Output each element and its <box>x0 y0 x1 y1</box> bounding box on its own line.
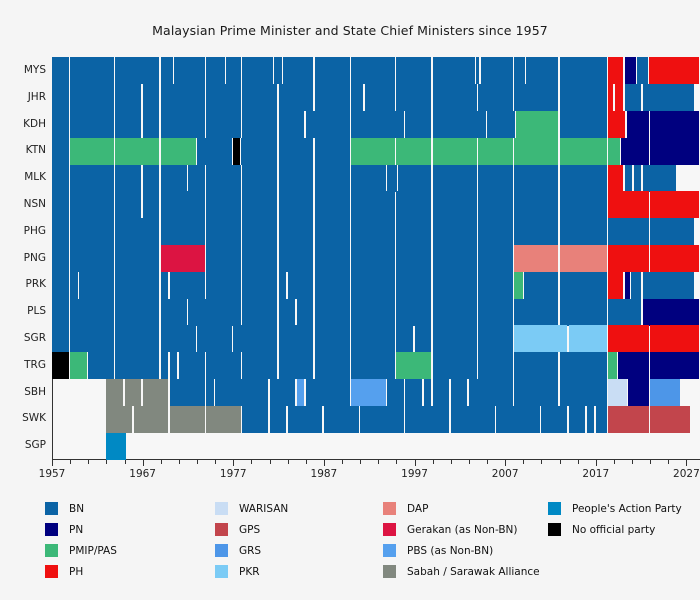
timeline-segment[interactable] <box>161 245 205 272</box>
timeline-segment[interactable] <box>79 272 114 299</box>
timeline-segment[interactable] <box>433 57 475 84</box>
timeline-segment[interactable] <box>643 84 694 111</box>
timeline-segment[interactable] <box>625 165 633 192</box>
y-axis-label-nsn: NSN <box>2 191 46 218</box>
timeline-segment[interactable] <box>206 111 241 138</box>
timeline-segment[interactable] <box>161 165 187 192</box>
timeline-segment[interactable] <box>351 352 395 379</box>
timeline-segment[interactable] <box>324 406 359 433</box>
timeline-segment[interactable] <box>115 325 159 352</box>
timeline-segment[interactable] <box>514 84 558 111</box>
timeline-segment[interactable] <box>242 352 277 379</box>
timeline-segment[interactable] <box>242 299 277 326</box>
timeline-segment[interactable] <box>241 138 277 165</box>
timeline-segment[interactable] <box>351 165 386 192</box>
timeline-segment[interactable] <box>161 352 169 379</box>
timeline-segment[interactable] <box>608 84 613 111</box>
legend-item[interactable]: PH <box>45 561 117 582</box>
timeline-segment[interactable] <box>643 165 676 192</box>
x-axis-minor-tick <box>360 460 361 464</box>
timeline-segment[interactable] <box>206 406 241 433</box>
timeline-segment[interactable] <box>478 352 513 379</box>
timeline-segment[interactable] <box>628 379 648 406</box>
timeline-segment[interactable] <box>478 245 513 272</box>
timeline-segment[interactable] <box>52 165 69 192</box>
timeline-segment[interactable] <box>70 111 114 138</box>
legend-item[interactable]: No official party <box>548 519 682 540</box>
x-axis-tick <box>143 460 144 466</box>
timeline-segment[interactable] <box>70 325 114 352</box>
timeline-segment[interactable] <box>650 111 698 138</box>
legend-label: DAP <box>407 503 428 515</box>
timeline-segment[interactable] <box>514 325 567 352</box>
timeline-segment[interactable] <box>587 406 595 433</box>
legend-item[interactable]: Gerakan (as Non-BN) <box>383 519 540 540</box>
timeline-segment[interactable] <box>387 165 396 192</box>
timeline-segment[interactable] <box>242 272 277 299</box>
timeline-segment[interactable] <box>283 57 313 84</box>
legend-item[interactable]: GRS <box>215 540 288 561</box>
timeline-segment[interactable] <box>560 299 608 326</box>
timeline-segment[interactable] <box>315 272 350 299</box>
timeline-row-sbh <box>52 379 700 406</box>
timeline-segment[interactable] <box>643 299 699 326</box>
timeline-segment[interactable] <box>70 84 114 111</box>
legend-item[interactable]: PMIP/PAS <box>45 540 117 561</box>
timeline-segment[interactable] <box>560 272 608 299</box>
timeline-segment[interactable] <box>478 325 513 352</box>
timeline-segment[interactable] <box>174 57 204 84</box>
timeline-segment[interactable] <box>161 57 173 84</box>
timeline-segment[interactable] <box>143 191 160 218</box>
timeline-segment[interactable] <box>206 84 241 111</box>
timeline-segment[interactable] <box>115 165 141 192</box>
timeline-segment[interactable] <box>433 191 477 218</box>
y-axis-label-sbh: SBH <box>2 379 46 406</box>
timeline-segment[interactable] <box>161 111 205 138</box>
timeline-segment[interactable] <box>596 406 607 433</box>
timeline-segment[interactable] <box>560 191 608 218</box>
legend-item[interactable]: WARISAN <box>215 498 288 519</box>
timeline-segment[interactable] <box>365 84 395 111</box>
timeline-segment[interactable] <box>415 325 432 352</box>
timeline-segment[interactable] <box>478 84 513 111</box>
timeline-segment[interactable] <box>315 191 350 218</box>
timeline-segment[interactable] <box>233 325 277 352</box>
legend-item[interactable]: BN <box>45 498 117 519</box>
timeline-segment[interactable] <box>115 191 141 218</box>
timeline-segment[interactable] <box>315 325 350 352</box>
timeline-segment[interactable] <box>608 191 648 218</box>
timeline-segment[interactable] <box>242 165 277 192</box>
timeline-segment[interactable] <box>496 406 540 433</box>
timeline-segment[interactable] <box>650 245 698 272</box>
timeline-segment[interactable] <box>627 111 649 138</box>
timeline-segment[interactable] <box>514 165 558 192</box>
timeline-segment[interactable] <box>197 138 232 165</box>
timeline-segment[interactable] <box>387 379 404 406</box>
timeline-segment[interactable] <box>351 272 395 299</box>
legend-label: PKR <box>239 566 260 578</box>
timeline-segment[interactable] <box>242 406 268 433</box>
timeline-segment[interactable] <box>143 84 160 111</box>
timeline-row-prk <box>52 272 700 299</box>
timeline-segment[interactable] <box>70 299 114 326</box>
timeline-segment[interactable] <box>351 138 395 165</box>
timeline-segment[interactable] <box>279 272 287 299</box>
timeline-segment[interactable] <box>396 138 431 165</box>
timeline-segment[interactable] <box>270 406 287 433</box>
timeline-segment[interactable] <box>396 245 431 272</box>
timeline-segment[interactable] <box>52 299 69 326</box>
timeline-segment[interactable] <box>315 245 350 272</box>
timeline-segment[interactable] <box>514 272 523 299</box>
timeline-segment[interactable] <box>351 245 395 272</box>
timeline-segment[interactable] <box>52 218 69 245</box>
timeline-segment[interactable] <box>161 325 196 352</box>
timeline-segment[interactable] <box>52 57 69 84</box>
timeline-segment[interactable] <box>650 406 689 433</box>
timeline-segment[interactable] <box>433 165 477 192</box>
timeline-segment[interactable] <box>315 84 350 111</box>
timeline-segment[interactable] <box>70 218 114 245</box>
timeline-segment[interactable] <box>170 272 205 299</box>
timeline-segment[interactable] <box>569 325 607 352</box>
timeline-segment[interactable] <box>274 57 282 84</box>
legend-item[interactable]: PN <box>45 519 117 540</box>
legend-item[interactable]: PKR <box>215 561 288 582</box>
timeline-segment[interactable] <box>351 218 395 245</box>
timeline-segment[interactable] <box>360 406 404 433</box>
timeline-segment[interactable] <box>106 433 125 460</box>
timeline-segment[interactable] <box>233 138 240 165</box>
timeline-segment[interactable] <box>52 191 69 218</box>
timeline-segment[interactable] <box>396 325 413 352</box>
timeline-segment[interactable] <box>560 245 608 272</box>
timeline-segment[interactable] <box>514 191 558 218</box>
timeline-segment[interactable] <box>279 84 314 111</box>
timeline-segment[interactable] <box>514 245 558 272</box>
timeline-segment[interactable] <box>514 299 558 326</box>
timeline-segment[interactable] <box>206 165 241 192</box>
timeline-segment[interactable] <box>351 191 395 218</box>
timeline-segment[interactable] <box>560 111 608 138</box>
timeline-segment[interactable] <box>526 57 558 84</box>
legend-swatch-icon <box>215 544 228 557</box>
timeline-segment[interactable] <box>161 191 205 218</box>
timeline-segment[interactable] <box>134 406 169 433</box>
timeline-segment[interactable] <box>608 165 623 192</box>
timeline-segment[interactable] <box>279 138 314 165</box>
timeline-segment[interactable] <box>115 218 159 245</box>
timeline-segment[interactable] <box>206 379 214 406</box>
timeline-segment[interactable] <box>115 138 159 165</box>
timeline-segment[interactable] <box>650 138 698 165</box>
timeline-segment[interactable] <box>631 272 641 299</box>
timeline-segment[interactable] <box>279 352 314 379</box>
timeline-segment[interactable] <box>188 165 205 192</box>
timeline-segment[interactable] <box>70 138 114 165</box>
timeline-segment[interactable] <box>451 406 495 433</box>
timeline-segment[interactable] <box>279 191 314 218</box>
legend-item[interactable]: DAP <box>383 498 540 519</box>
timeline-segment[interactable] <box>315 57 350 84</box>
timeline-segment[interactable] <box>115 299 159 326</box>
timeline-segment[interactable] <box>242 191 277 218</box>
timeline-segment[interactable] <box>608 111 625 138</box>
legend-item[interactable]: GPS <box>215 519 288 540</box>
timeline-segment[interactable] <box>170 352 178 379</box>
timeline-segment[interactable] <box>637 57 647 84</box>
timeline-segment[interactable] <box>560 352 608 379</box>
timeline-segment[interactable] <box>206 272 241 299</box>
timeline-segment[interactable] <box>615 84 624 111</box>
timeline-segment[interactable] <box>279 299 296 326</box>
timeline-segment[interactable] <box>625 57 636 84</box>
timeline-segment[interactable] <box>514 352 558 379</box>
legend-swatch-icon <box>383 502 396 515</box>
timeline-segment[interactable] <box>288 272 314 299</box>
legend-item[interactable]: People's Action Party <box>548 498 682 519</box>
timeline-segment[interactable] <box>226 57 241 84</box>
timeline-segment[interactable] <box>70 191 114 218</box>
timeline-segment[interactable] <box>560 218 608 245</box>
timeline-segment[interactable] <box>52 138 69 165</box>
timeline-segment[interactable] <box>433 111 486 138</box>
timeline-segment[interactable] <box>279 245 314 272</box>
timeline-segment[interactable] <box>478 191 513 218</box>
x-axis-minor-tick <box>342 460 343 464</box>
timeline-segment[interactable] <box>315 218 350 245</box>
legend-item[interactable]: Sabah / Sarawak Alliance <box>383 561 540 582</box>
timeline-segment[interactable] <box>315 138 350 165</box>
timeline-segment[interactable] <box>650 379 680 406</box>
timeline-segment[interactable] <box>487 111 515 138</box>
timeline-segment[interactable] <box>170 379 205 406</box>
timeline-segment[interactable] <box>650 325 698 352</box>
timeline-segment[interactable] <box>115 57 159 84</box>
timeline-segment[interactable] <box>625 272 630 299</box>
timeline-segment[interactable] <box>143 379 169 406</box>
timeline-segment[interactable] <box>70 165 114 192</box>
timeline-segment[interactable] <box>206 191 241 218</box>
timeline-segment[interactable] <box>215 379 268 406</box>
timeline-segment[interactable] <box>170 406 205 433</box>
timeline-segment[interactable] <box>608 138 619 165</box>
timeline-segment[interactable] <box>242 84 277 111</box>
timeline-segment[interactable] <box>396 272 431 299</box>
timeline-segment[interactable] <box>161 218 205 245</box>
timeline-segment[interactable] <box>242 57 272 84</box>
timeline-segment[interactable] <box>315 165 350 192</box>
timeline-segment[interactable] <box>270 379 296 406</box>
timeline-segment[interactable] <box>206 245 241 272</box>
timeline-segment[interactable] <box>433 352 477 379</box>
timeline-segment[interactable] <box>351 57 395 84</box>
timeline-segment[interactable] <box>514 379 558 406</box>
timeline-segment[interactable] <box>306 111 350 138</box>
timeline-segment[interactable] <box>569 406 586 433</box>
x-axis-minor-tick <box>433 460 434 464</box>
timeline-segment[interactable] <box>476 57 479 84</box>
timeline-segment[interactable] <box>115 272 159 299</box>
timeline-segment[interactable] <box>242 245 277 272</box>
legend-label: No official party <box>572 524 655 536</box>
timeline-segment[interactable] <box>541 406 567 433</box>
timeline-segment[interactable] <box>405 406 449 433</box>
x-axis-tick-label: 1977 <box>220 468 247 480</box>
y-axis-label-sgp: SGP <box>2 432 46 459</box>
timeline-segment[interactable] <box>451 379 468 406</box>
timeline-segment[interactable] <box>481 57 513 84</box>
y-axis-label-kdh: KDH <box>2 111 46 138</box>
timeline-segment[interactable] <box>306 379 350 406</box>
timeline-segment[interactable] <box>608 272 623 299</box>
timeline-segment[interactable] <box>52 352 69 379</box>
timeline-segment[interactable] <box>405 379 422 406</box>
timeline-segment[interactable] <box>179 352 205 379</box>
timeline-segment[interactable] <box>396 191 431 218</box>
timeline-segment[interactable] <box>106 379 123 406</box>
timeline-segment[interactable] <box>608 218 648 245</box>
timeline-segment[interactable] <box>52 325 69 352</box>
timeline-segment[interactable] <box>478 138 513 165</box>
timeline-segment[interactable] <box>52 272 69 299</box>
timeline-segment[interactable] <box>514 138 558 165</box>
timeline-segment[interactable] <box>315 299 350 326</box>
timeline-segment[interactable] <box>115 352 159 379</box>
timeline-segment[interactable] <box>643 272 694 299</box>
timeline-segment[interactable] <box>351 379 386 406</box>
timeline-segment[interactable] <box>396 218 431 245</box>
x-axis-minor-tick <box>396 460 397 464</box>
timeline-segment[interactable] <box>206 352 241 379</box>
timeline-segment[interactable] <box>88 352 114 379</box>
timeline-segment[interactable] <box>608 325 648 352</box>
timeline-segment[interactable] <box>188 299 241 326</box>
legend-item[interactable]: PBS (as Non-BN) <box>383 540 540 561</box>
timeline-segment[interactable] <box>197 325 232 352</box>
timeline-segment[interactable] <box>279 165 314 192</box>
timeline-segment[interactable] <box>315 352 350 379</box>
timeline-segment[interactable] <box>396 352 431 379</box>
timeline-segment[interactable] <box>478 299 513 326</box>
timeline-segment[interactable] <box>242 218 277 245</box>
timeline-segment[interactable] <box>405 111 431 138</box>
timeline-segment[interactable] <box>560 138 608 165</box>
timeline-segment[interactable] <box>161 138 196 165</box>
timeline-segment[interactable] <box>625 84 642 111</box>
timeline-segment[interactable] <box>514 218 558 245</box>
timeline-segment[interactable] <box>608 406 648 433</box>
timeline-segment[interactable] <box>279 218 314 245</box>
timeline-segment[interactable] <box>649 57 698 84</box>
timeline-segment[interactable] <box>288 406 323 433</box>
timeline-segment[interactable] <box>143 165 160 192</box>
timeline-segment[interactable] <box>52 84 69 111</box>
timeline-segment[interactable] <box>279 111 305 138</box>
timeline-segment[interactable] <box>469 379 513 406</box>
timeline-segment[interactable] <box>433 325 477 352</box>
timeline-segment[interactable] <box>396 84 431 111</box>
timeline-segment[interactable] <box>433 138 477 165</box>
timeline-segment[interactable] <box>351 299 395 326</box>
timeline-segment[interactable] <box>351 111 404 138</box>
timeline-segment[interactable] <box>396 57 431 84</box>
timeline-segment[interactable] <box>70 57 114 84</box>
x-axis-tick-label: 2017 <box>582 468 609 480</box>
timeline-segment[interactable] <box>634 165 642 192</box>
timeline-segment[interactable] <box>560 379 608 406</box>
timeline-segment[interactable] <box>618 352 648 379</box>
timeline-segment[interactable] <box>433 272 477 299</box>
timeline-segment[interactable] <box>161 84 205 111</box>
timeline-segment[interactable] <box>206 218 241 245</box>
timeline-segment[interactable] <box>516 111 558 138</box>
timeline-segment[interactable] <box>297 379 305 406</box>
timeline-segment[interactable] <box>115 245 159 272</box>
timeline-segment[interactable] <box>650 191 698 218</box>
timeline-segment[interactable] <box>621 138 649 165</box>
timeline-segment[interactable] <box>52 111 69 138</box>
x-axis-minor-tick <box>632 460 633 464</box>
timeline-segment[interactable] <box>560 57 608 84</box>
timeline-segment[interactable] <box>433 218 477 245</box>
timeline-segment[interactable] <box>514 57 524 84</box>
timeline-segment[interactable] <box>351 325 395 352</box>
timeline-segment[interactable] <box>608 352 617 379</box>
timeline-segment[interactable] <box>297 299 314 326</box>
timeline-segment[interactable] <box>125 379 142 406</box>
timeline-segment[interactable] <box>433 299 477 326</box>
timeline-segment[interactable] <box>560 165 608 192</box>
timeline-segment[interactable] <box>433 84 477 111</box>
timeline-segment[interactable] <box>70 272 78 299</box>
timeline-segment[interactable] <box>608 299 641 326</box>
timeline-segment[interactable] <box>115 84 141 111</box>
timeline-segment[interactable] <box>433 379 450 406</box>
timeline-segment[interactable] <box>424 379 432 406</box>
timeline-segment[interactable] <box>70 352 87 379</box>
timeline-segment[interactable] <box>161 272 169 299</box>
x-axis-minor-tick <box>306 460 307 464</box>
timeline-segment[interactable] <box>351 84 363 111</box>
timeline-segment[interactable] <box>396 299 431 326</box>
timeline-segment[interactable] <box>478 272 513 299</box>
timeline-segment[interactable] <box>433 245 477 272</box>
timeline-segment[interactable] <box>650 352 698 379</box>
timeline-segment[interactable] <box>560 84 608 111</box>
timeline-segment[interactable] <box>524 272 558 299</box>
timeline-segment[interactable] <box>143 111 160 138</box>
timeline-segment[interactable] <box>52 245 69 272</box>
timeline-segment[interactable] <box>608 245 648 272</box>
timeline-segment[interactable] <box>608 57 623 84</box>
timeline-segment[interactable] <box>478 218 513 245</box>
timeline-segment[interactable] <box>70 245 114 272</box>
timeline-segment[interactable] <box>206 57 225 84</box>
timeline-segment[interactable] <box>106 406 132 433</box>
timeline-segment[interactable] <box>161 299 187 326</box>
timeline-segment[interactable] <box>115 111 141 138</box>
timeline-segment[interactable] <box>650 218 694 245</box>
timeline-segment[interactable] <box>608 379 627 406</box>
timeline-segment[interactable] <box>242 111 277 138</box>
timeline-segment[interactable] <box>279 325 314 352</box>
legend-column-1: BNPNPMIP/PASPH <box>45 498 117 582</box>
timeline-segment[interactable] <box>478 165 513 192</box>
timeline-segment[interactable] <box>398 165 431 192</box>
